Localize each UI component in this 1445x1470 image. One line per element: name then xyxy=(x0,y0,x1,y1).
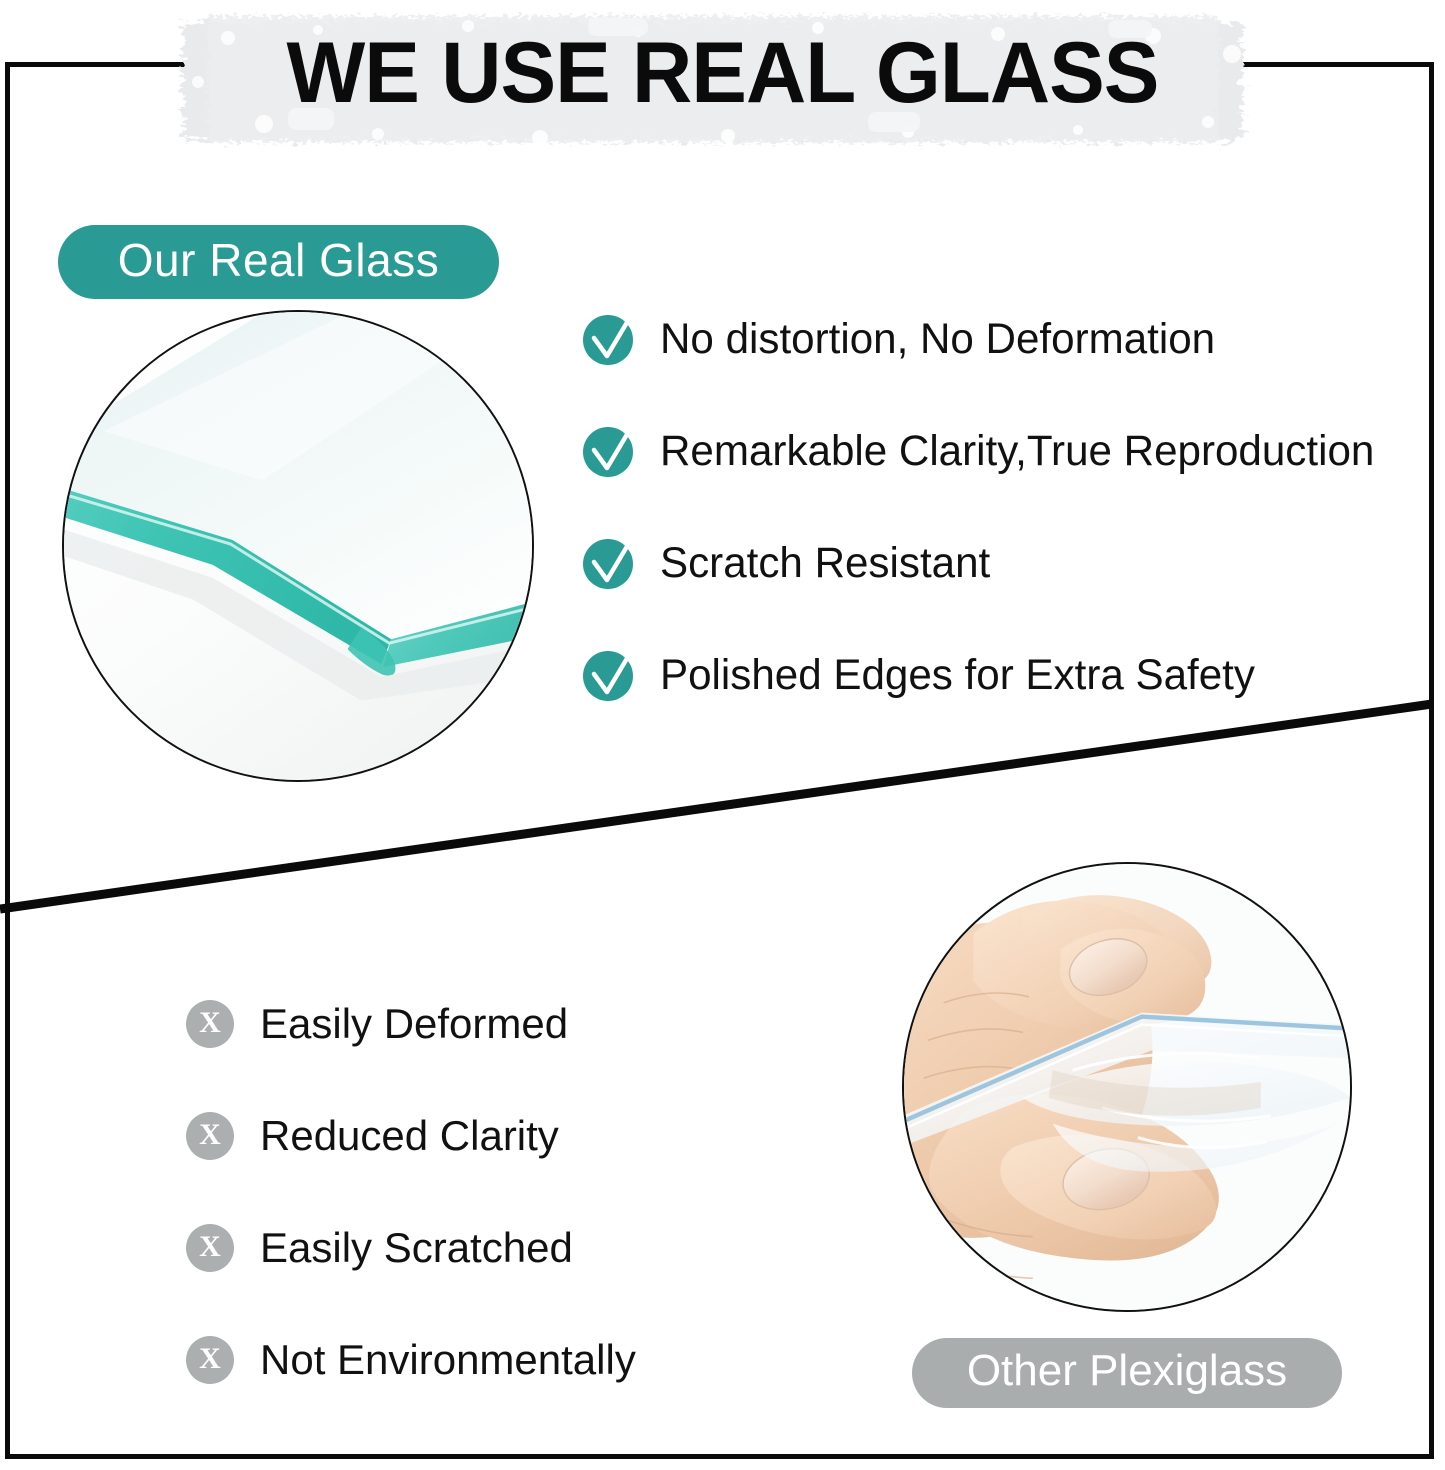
badge-our-real-glass: Our Real Glass xyxy=(58,225,499,299)
drawback-label: Easily Scratched xyxy=(260,1227,573,1269)
check-circle-icon xyxy=(582,312,636,366)
benefit-label: No distortion, No Deformation xyxy=(660,318,1215,361)
drawback-label: Easily Deformed xyxy=(260,1003,568,1045)
drawback-label: Not Environmentally xyxy=(260,1339,636,1381)
benefit-label: Scratch Resistant xyxy=(660,542,990,585)
x-circle-icon: X xyxy=(186,1112,234,1160)
benefit-list: No distortion, No Deformation Remarkable… xyxy=(582,283,1434,731)
drawback-list: X Easily Deformed X Reduced Clarity X Ea… xyxy=(186,968,806,1416)
benefit-item: Polished Edges for Extra Safety xyxy=(582,619,1434,731)
drawback-item: X Easily Scratched xyxy=(186,1192,806,1304)
benefit-item: Scratch Resistant xyxy=(582,507,1434,619)
check-circle-icon xyxy=(582,648,636,702)
x-glyph: X xyxy=(199,1120,221,1152)
page-title: WE USE REAL GLASS xyxy=(22,28,1424,118)
drawback-item: X Reduced Clarity xyxy=(186,1080,806,1192)
drawback-label: Reduced Clarity xyxy=(260,1115,559,1157)
badge-other-plexiglass: Other Plexiglass xyxy=(912,1338,1342,1408)
tempered-glass-corner-photo xyxy=(62,310,534,782)
benefit-label: Polished Edges for Extra Safety xyxy=(660,654,1255,697)
benefit-item: Remarkable Clarity,True Reproduction xyxy=(582,395,1434,507)
x-glyph: X xyxy=(199,1344,221,1376)
infographic-canvas: WE USE REAL GLASS Our Real Glass xyxy=(0,0,1445,1470)
x-glyph: X xyxy=(199,1008,221,1040)
x-circle-icon: X xyxy=(186,1000,234,1048)
hand-bending-plexiglass-photo xyxy=(902,862,1352,1312)
check-circle-icon xyxy=(582,536,636,590)
drawback-item: X Easily Deformed xyxy=(186,968,806,1080)
x-circle-icon: X xyxy=(186,1336,234,1384)
x-glyph: X xyxy=(199,1232,221,1264)
benefit-label: Remarkable Clarity,True Reproduction xyxy=(660,430,1374,473)
x-circle-icon: X xyxy=(186,1224,234,1272)
check-circle-icon xyxy=(582,424,636,478)
drawback-item: X Not Environmentally xyxy=(186,1304,806,1416)
badge-label-good: Our Real Glass xyxy=(118,237,439,287)
badge-label-bad: Other Plexiglass xyxy=(967,1349,1287,1397)
benefit-item: No distortion, No Deformation xyxy=(582,283,1434,395)
